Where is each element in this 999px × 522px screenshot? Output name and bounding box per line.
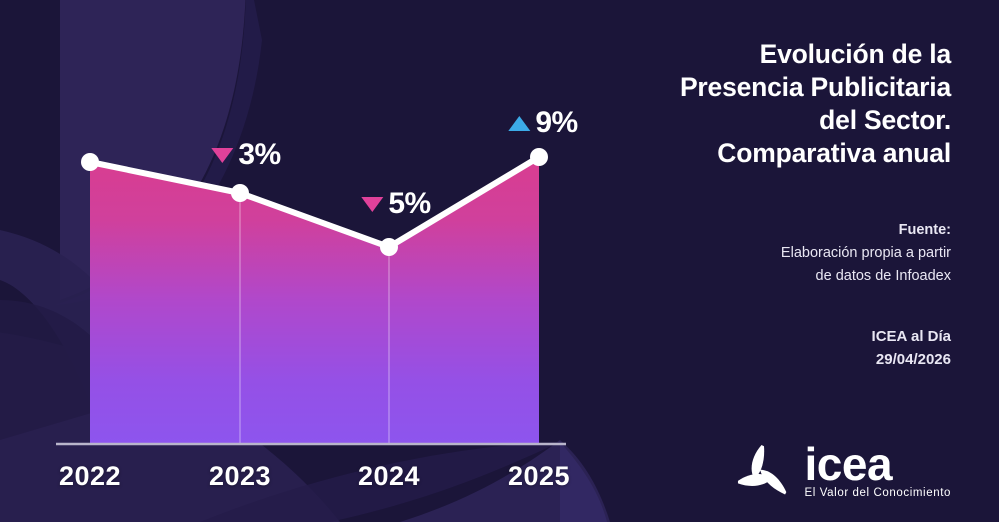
data-point-2022	[81, 153, 99, 171]
source-block: Fuente: Elaboración propia a partir de d…	[620, 219, 951, 288]
source-line-2: de datos de Infoadex	[620, 265, 951, 288]
data-point-2024	[380, 238, 398, 256]
axis-label-2022: 2022	[59, 461, 121, 492]
source-label: Fuente:	[620, 219, 951, 242]
annotation-2023-value: 3%	[238, 138, 280, 172]
logo-text: icea El Valor del Conocimiento	[805, 443, 951, 499]
publication-date: 29/04/2026	[620, 349, 951, 372]
data-point-2023	[231, 184, 249, 202]
triangle-up-icon	[508, 116, 530, 131]
axis-label-2025: 2025	[508, 461, 570, 492]
annotation-2025: 9%	[508, 106, 577, 140]
title-line-1: Evolución de la	[620, 38, 951, 71]
triangle-down-icon	[361, 197, 383, 212]
area-chart	[0, 0, 620, 522]
axis-label-2024: 2024	[358, 461, 420, 492]
chart-area: 3% 5% 9% 2022 2023 2024 2025	[0, 0, 620, 522]
source-line-1: Elaboración propia a partir	[620, 242, 951, 265]
icea-trefoil-icon	[733, 440, 795, 502]
title-line-2: Presencia Publicitaria	[620, 71, 951, 104]
meta-block: ICEA al Día 29/04/2026	[620, 326, 951, 371]
triangle-down-icon	[211, 148, 233, 163]
annotation-2024-value: 5%	[388, 187, 430, 221]
annotation-2025-value: 9%	[535, 106, 577, 140]
infographic-root: 3% 5% 9% 2022 2023 2024 2025 Evolución d…	[0, 0, 999, 522]
title-line-3: del Sector.	[620, 104, 951, 137]
icea-logo: icea El Valor del Conocimiento	[733, 440, 951, 502]
logo-tagline: El Valor del Conocimiento	[805, 487, 951, 499]
logo-wordmark: icea	[805, 443, 951, 485]
annotation-2023: 3%	[211, 138, 280, 172]
publication-name: ICEA al Día	[620, 326, 951, 349]
title-line-4: Comparativa anual	[620, 137, 951, 170]
axis-label-2023: 2023	[209, 461, 271, 492]
data-point-2025	[530, 148, 548, 166]
annotation-2024: 5%	[361, 187, 430, 221]
page-title: Evolución de la Presencia Publicitaria d…	[620, 38, 951, 169]
